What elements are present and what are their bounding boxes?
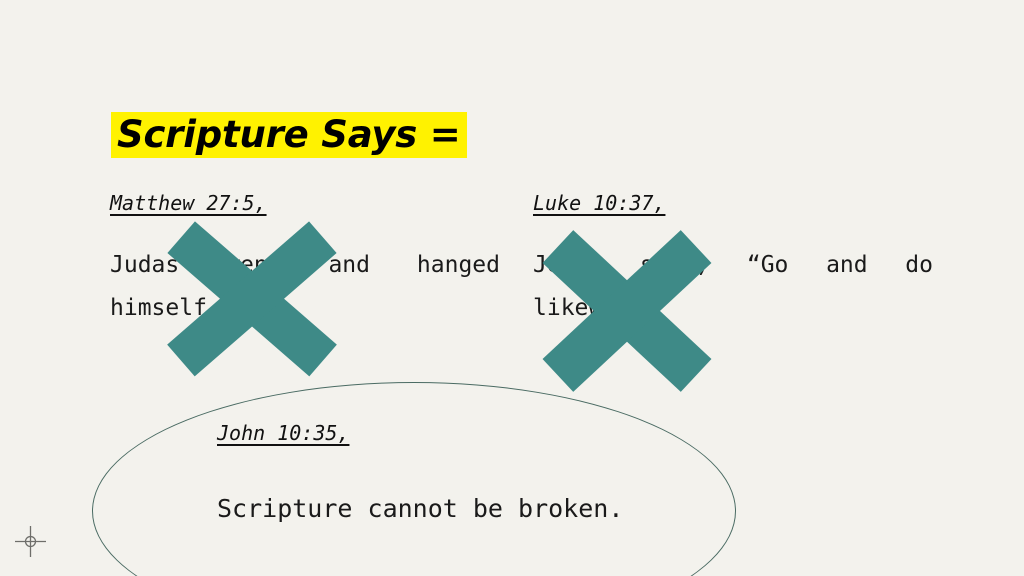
slide-canvas: Scripture Says = Matthew 27:5, Judas wen… bbox=[0, 0, 1024, 576]
verse-reference-john: John 10:35, bbox=[217, 420, 349, 446]
verse-body-luke: Jesus said, “Go and do likewise.” bbox=[533, 244, 933, 330]
verse-block-luke: Luke 10:37, Jesus said, “Go and do likew… bbox=[533, 190, 933, 330]
verse-body-matthew: Judas went and hanged himself. bbox=[110, 244, 500, 330]
verse-reference-matthew: Matthew 27:5, bbox=[110, 190, 267, 216]
page-title-text: Scripture Says = bbox=[111, 112, 467, 158]
verse-reference-luke: Luke 10:37, bbox=[533, 190, 665, 216]
verse-body-john: Scripture cannot be broken. bbox=[217, 492, 697, 526]
verse-block-matthew: Matthew 27:5, Judas went and hanged hims… bbox=[110, 190, 500, 330]
verse-block-john: John 10:35, Scripture cannot be broken. bbox=[217, 420, 697, 526]
registration-mark-icon bbox=[14, 525, 47, 558]
page-title: Scripture Says = bbox=[111, 112, 467, 158]
